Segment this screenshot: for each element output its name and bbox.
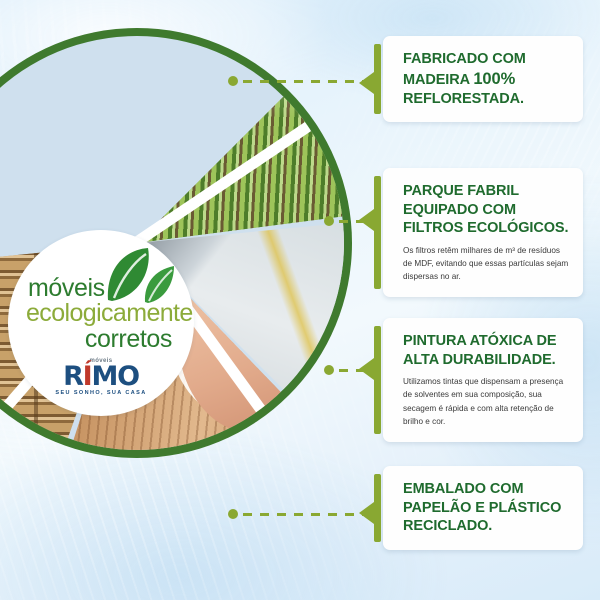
connector-line-1 <box>243 80 363 83</box>
connector-dot-3 <box>324 365 334 375</box>
callout-card-pintura-atoxica[interactable]: PINTURA ATÓXICA DE ALTA DURABILIDADE. Ut… <box>383 318 583 442</box>
callout-heading: EMBALADO COM PAPELÃO E PLÁSTICO RECICLAD… <box>403 480 569 536</box>
rimo-logo: móveis RÍMO SEU SONHO, SUA CASA <box>55 358 146 397</box>
callout-card-parque-fabril[interactable]: PARQUE FABRIL EQUIPADO COM FILTROS ECOLÓ… <box>383 168 583 297</box>
card-arrow-icon <box>359 358 374 380</box>
rimo-logo-wordmark: RÍMO <box>55 363 146 390</box>
rimo-logo-tagline: SEU SONHO, SUA CASA <box>55 391 146 397</box>
card-accent-bar <box>374 474 381 542</box>
callout-heading: PARQUE FABRIL EQUIPADO COM FILTROS ECOLÓ… <box>403 182 569 238</box>
connector-dot-2 <box>324 216 334 226</box>
callout-card-fabricado[interactable]: FABRICADO COM MADEIRA 100% REFLORESTADA. <box>383 36 583 122</box>
brand-badge: móveis ecologicamente corretos móveis RÍ… <box>8 230 194 416</box>
card-arrow-icon <box>359 502 374 524</box>
connector-dot-4 <box>228 509 238 519</box>
callout-card-embalado[interactable]: EMBALADO COM PAPELÃO E PLÁSTICO RECICLAD… <box>383 466 583 550</box>
infographic-canvas: móveis ecologicamente corretos móveis RÍ… <box>0 0 600 600</box>
connector-line-4 <box>243 513 363 516</box>
badge-line-1: móveis <box>28 276 105 301</box>
callout-heading: PINTURA ATÓXICA DE ALTA DURABILIDADE. <box>403 332 569 369</box>
card-accent-bar <box>374 326 381 434</box>
card-accent-bar <box>374 176 381 289</box>
card-accent-bar <box>374 44 381 114</box>
card-arrow-icon <box>359 209 374 231</box>
card-arrow-icon <box>359 72 374 94</box>
connector-dot-1 <box>228 76 238 86</box>
callout-body: Utilizamos tintas que dispensam a presen… <box>403 375 569 428</box>
callout-body: Os filtros retêm milhares de m³ de resíd… <box>403 244 569 284</box>
badge-line-3: corretos <box>85 327 172 353</box>
callout-heading: FABRICADO COM MADEIRA 100% REFLORESTADA. <box>403 50 569 108</box>
leaf-icon <box>100 244 176 306</box>
